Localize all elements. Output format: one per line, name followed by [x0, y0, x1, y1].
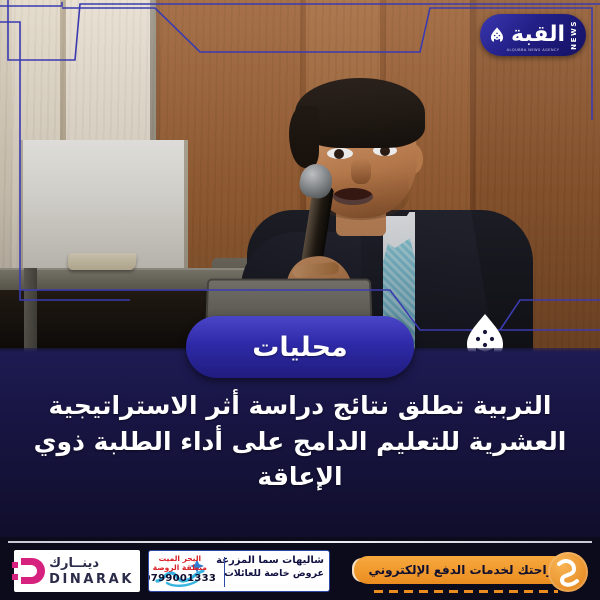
dinarak-arabic-name: دينــارك — [49, 557, 99, 570]
channel-logo[interactable]: NEWS القبة ALQUBBA NEWS AGENCY — [480, 14, 586, 56]
sponsor-dinarak[interactable]: دينــارك DINARAK — [14, 550, 140, 592]
footer-divider — [8, 541, 592, 543]
category-badge-label: محليات — [252, 334, 348, 361]
sponsor-rahtak[interactable]: راحتك لخدمات الدفع الإلكتروني — [336, 552, 588, 592]
category-badge[interactable]: محليات — [186, 316, 414, 378]
logo-news-label: NEWS — [570, 20, 578, 50]
rahtak-logo-circle — [548, 552, 588, 592]
sama-content: شاليهات سما المزرعة عروض خاصة للعائلات ا… — [149, 551, 329, 591]
dome-icon — [488, 21, 506, 49]
sama-line-1: شاليهات سما المزرعة — [216, 555, 324, 568]
headline-band: محليات التربية تطلق نتائج دراسة أثر الاس… — [0, 352, 600, 537]
sama-headlines: شاليهات سما المزرعة عروض خاصة للعائلات — [216, 551, 329, 591]
sama-note-1: البحر الميت — [148, 554, 216, 563]
headline-text: التربية تطلق نتائج دراسة أثر الاستراتيجي… — [28, 388, 572, 495]
sama-note-2: منطقة الروضة — [148, 563, 216, 572]
rahtak-swirl-icon — [548, 552, 588, 592]
sama-separator — [224, 557, 225, 587]
sponsor-footer: دينــارك DINARAK شاليهات سما المزرعة عرو… — [0, 546, 600, 600]
dome-watermark-icon — [458, 312, 512, 352]
dinarak-latin-name: DINARAK — [49, 573, 134, 586]
logo-arabic-label: القبة — [511, 24, 565, 46]
rahtak-pill: راحتك لخدمات الدفع الإلكتروني — [354, 556, 568, 584]
news-card: NEWS القبة ALQUBBA NEWS AGENCY محليات ال… — [0, 0, 600, 600]
sama-line-2: عروض خاصة للعائلات — [216, 568, 324, 580]
dinarak-d-icon — [11, 555, 45, 587]
logo-subtitle: ALQUBBA NEWS AGENCY — [480, 48, 586, 52]
dinarak-text: دينــارك DINARAK — [49, 557, 134, 586]
sama-phone-number[interactable]: 0799001333 — [148, 572, 216, 585]
rahtak-dashed-underline — [374, 590, 558, 593]
sama-details: البحر الميت منطقة الروضة 0799001333 — [148, 551, 216, 591]
sponsor-sama-almazraa[interactable]: شاليهات سما المزرعة عروض خاصة للعائلات ا… — [148, 550, 330, 592]
rahtak-label: راحتك لخدمات الدفع الإلكتروني — [369, 563, 554, 577]
news-photo: NEWS القبة ALQUBBA NEWS AGENCY — [0, 0, 600, 352]
